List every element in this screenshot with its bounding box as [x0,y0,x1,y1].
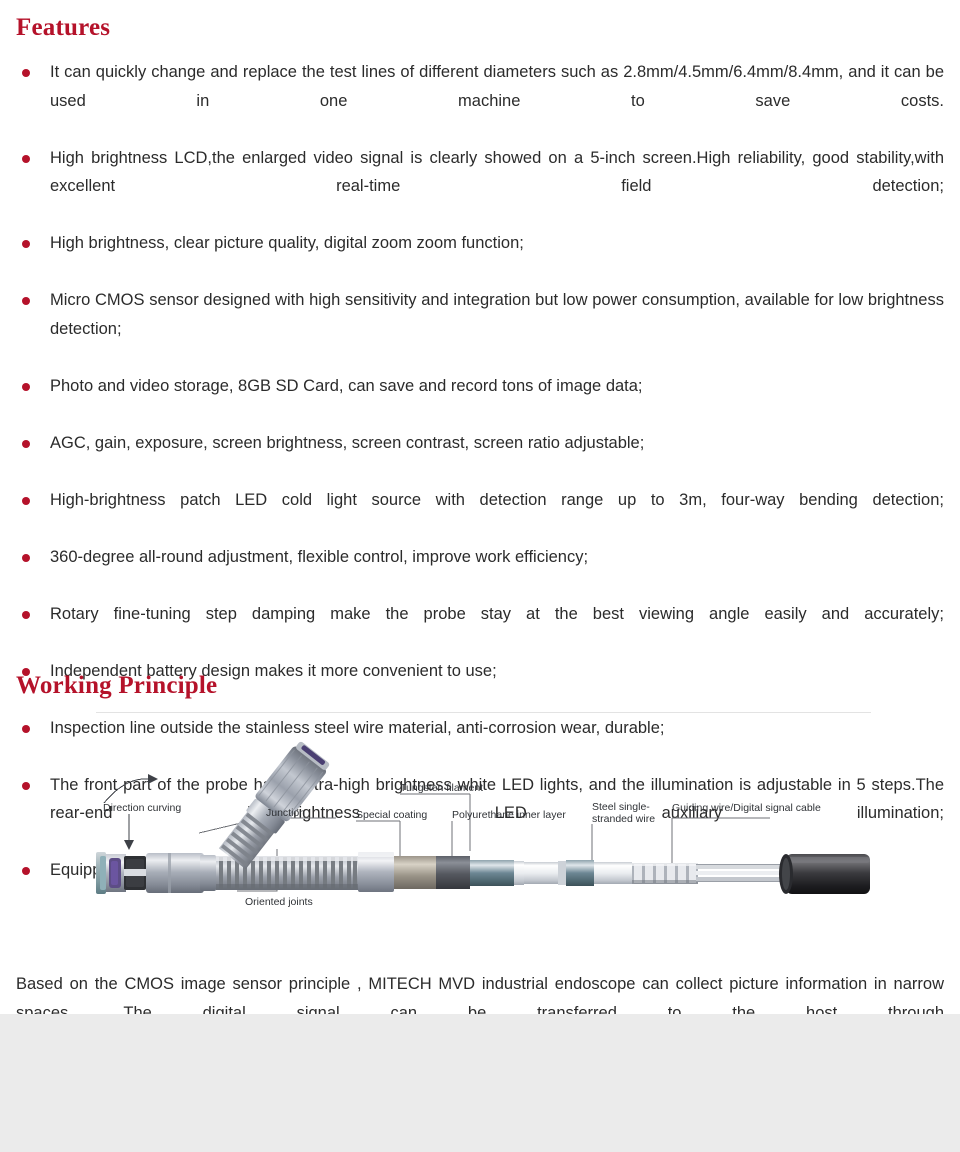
working-principle-heading: Working Principle [16,671,217,701]
label-junction: Junction [266,807,305,819]
label-guiding-wire-digital-signal-cable: Guiding wire/Digital signal cable [672,802,821,814]
label-polyurethane-inner-layer: Polyurethane inner layer [452,809,566,821]
document-page: Features It can quickly change and repla… [0,0,960,1014]
list-item: Rotary fine-tuning step damping make the… [0,600,960,657]
layered-shaft [470,860,632,886]
bullet-icon [22,240,30,248]
label-direction-curving: Direction curving [103,802,181,814]
list-item: Photo and video storage, 8GB SD Card, ca… [0,372,960,429]
list-item-text: It can quickly change and replace the te… [50,58,944,144]
working-principle-figure: Direction curving Junction Oriented join… [0,706,960,938]
list-item: 360-degree all-round adjustment, flexibl… [0,543,960,600]
bullet-icon [22,497,30,505]
list-item-text: Rotary fine-tuning step damping make the… [50,600,944,657]
bullet-icon [22,297,30,305]
list-item: High brightness LCD,the enlarged video s… [0,144,960,230]
page-bottom-gutter [0,1014,960,1152]
probe-collar [358,852,394,892]
list-item-text: High brightness LCD,the enlarged video s… [50,144,944,230]
list-item-text: Micro CMOS sensor designed with high sen… [50,286,944,372]
working-principle-paragraph: Based on the CMOS image sensor principle… [16,970,944,1015]
list-item-text: High-brightness patch LED cold light sou… [50,486,944,543]
bullet-icon [22,155,30,163]
bent-probe-head [216,739,332,871]
endoscope-probe-diagram: Direction curving Junction Oriented join… [0,706,960,938]
list-item: Micro CMOS sensor designed with high sen… [0,286,960,372]
label-oriented-joints: Oriented joints [245,896,313,908]
list-item-text: 360-degree all-round adjustment, flexibl… [50,543,944,600]
list-item-text: High brightness, clear picture quality, … [50,229,944,286]
label-steel-single-stranded-wire-line2: stranded wire [592,813,655,825]
features-heading: Features [16,13,110,43]
dark-band [436,856,470,889]
label-special-coating: Special coating [356,809,427,821]
list-item-text: Photo and video storage, 8GB SD Card, ca… [50,372,944,429]
list-item: It can quickly change and replace the te… [0,58,960,144]
bullet-icon [22,554,30,562]
list-item: High-brightness patch LED cold light sou… [0,486,960,543]
probe-camera-tip [96,852,216,894]
label-tungsten-filament: Tungsten filament [400,782,483,794]
list-item: AGC, gain, exposure, screen brightness, … [0,429,960,486]
list-item: High brightness, clear picture quality, … [0,229,960,286]
special-coating-band [394,856,436,889]
list-item-text: AGC, gain, exposure, screen brightness, … [50,429,944,486]
steel-stranded-coil [632,863,698,884]
bullet-icon [22,440,30,448]
bullet-icon [22,69,30,77]
bullet-icon [22,383,30,391]
rear-cable [779,854,870,894]
label-steel-single-stranded-wire-line1: Steel single- [592,801,650,813]
bullet-icon [22,611,30,619]
